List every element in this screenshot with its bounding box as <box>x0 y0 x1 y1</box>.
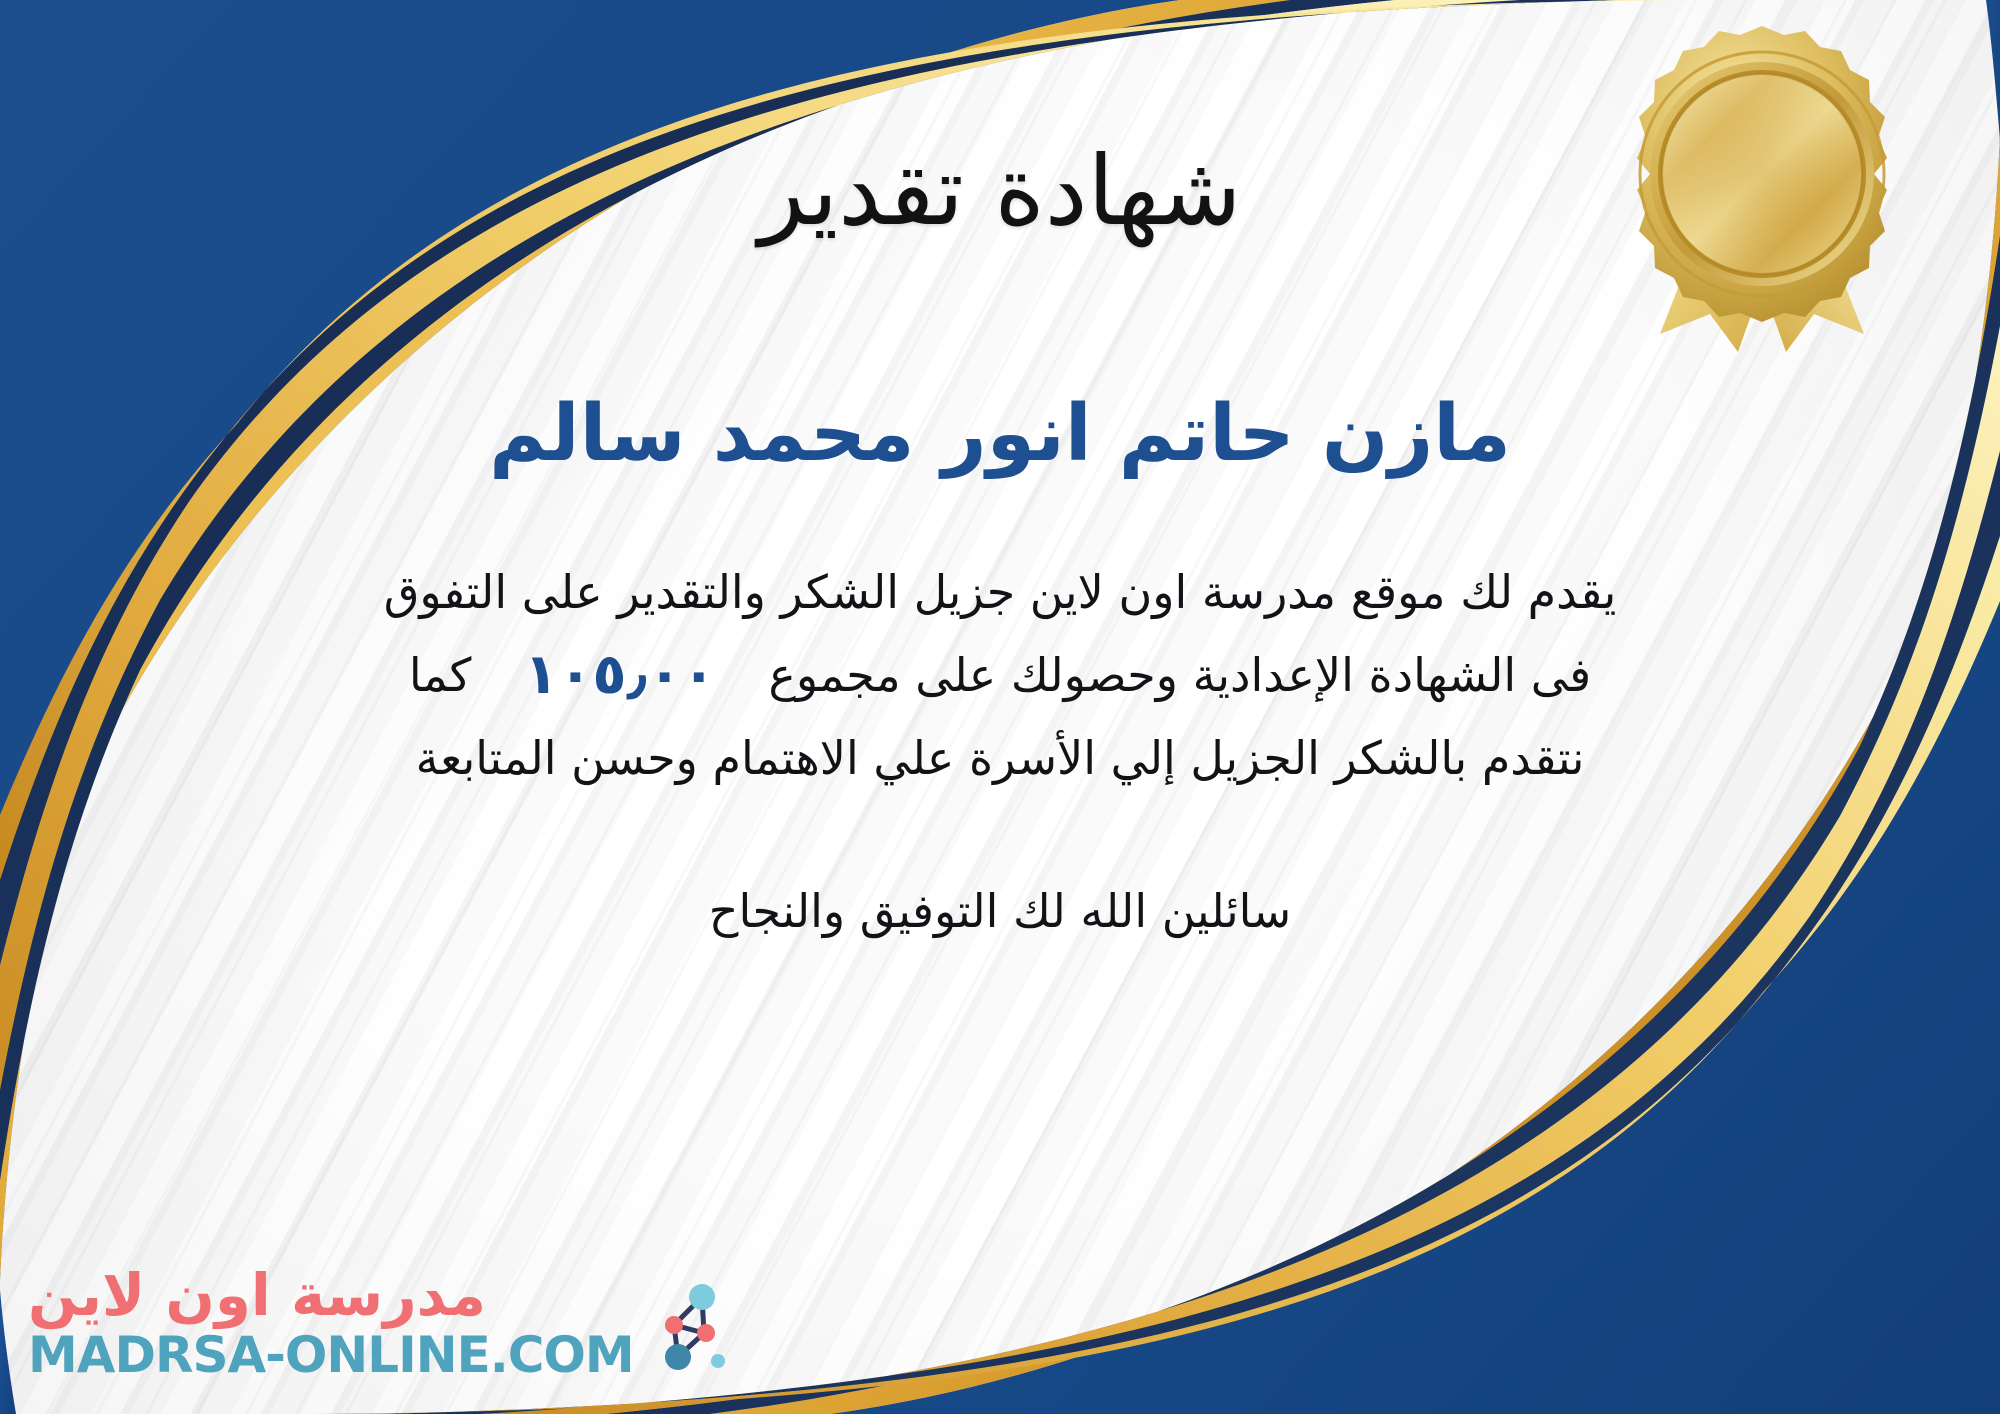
certificate-canvas: شهادة تقدير مازن حاتم انور محمد سالم يقد… <box>0 0 2000 1414</box>
recipient-name: مازن حاتم انور محمد سالم <box>489 392 1511 478</box>
logo-domain-text: MADRSA-ONLINE.COM <box>28 1330 634 1380</box>
closing-wish: سائلين الله لك التوفيق والنجاح <box>709 877 1291 946</box>
site-logo[interactable]: مدرسة اون لاين MADRSA-ONLINE.COM <box>28 1266 730 1380</box>
body-line-2-prefix: فى الشهادة الإعدادية وحصولك على مجموع <box>768 648 1591 702</box>
logo-text-group: مدرسة اون لاين MADRSA-ONLINE.COM <box>28 1266 634 1380</box>
body-line-2: فى الشهادة الإعدادية وحصولك على مجموع ١٠… <box>220 630 1780 721</box>
logo-arabic-name: مدرسة اون لاين <box>28 1266 486 1324</box>
body-line-3: نتقدم بالشكر الجزيل إلي الأسرة علي الاهت… <box>220 721 1780 796</box>
certificate-content: شهادة تقدير مازن حاتم انور محمد سالم يقد… <box>0 0 2000 1414</box>
network-nodes-icon <box>644 1275 730 1371</box>
body-line-2-suffix: كما <box>409 648 472 702</box>
certificate-body: يقدم لك موقع مدرسة اون لاين جزيل الشكر و… <box>220 555 1780 795</box>
grade-value: ١٠٥٫٠٠ <box>486 630 754 721</box>
page-title: شهادة تقدير <box>759 140 1242 244</box>
body-line-1: يقدم لك موقع مدرسة اون لاين جزيل الشكر و… <box>220 555 1780 630</box>
